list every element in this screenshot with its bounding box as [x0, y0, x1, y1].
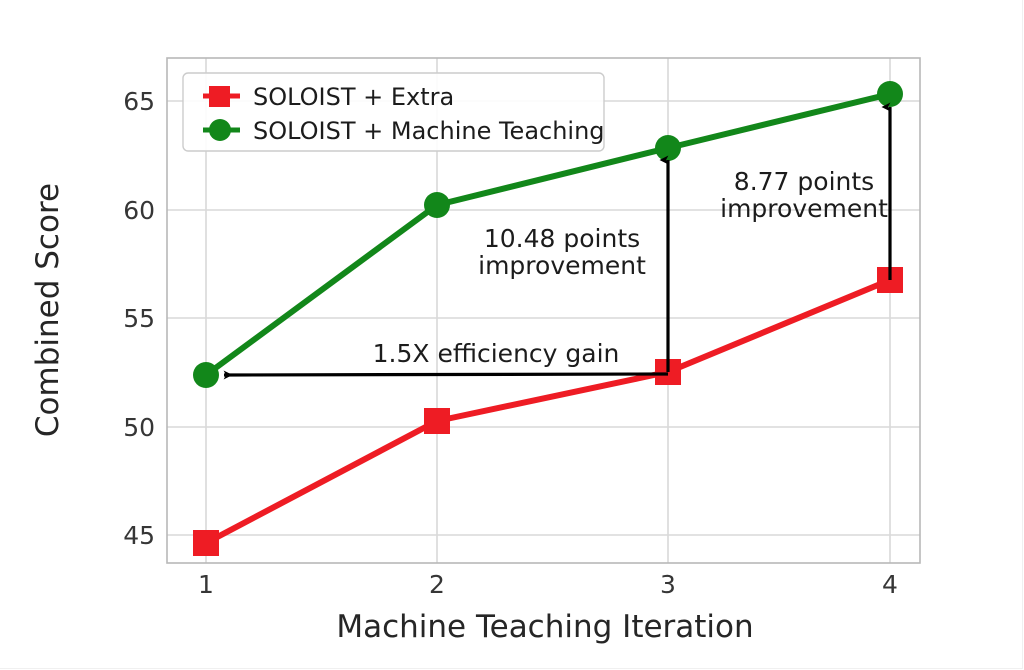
x-tick-4: 4 — [882, 570, 898, 599]
green-point-4 — [877, 81, 903, 107]
red-point-2 — [424, 408, 450, 434]
legend[interactable]: SOLOIST + Extra SOLOIST + Machine Teachi… — [183, 73, 605, 151]
annotation-efficiency-line1: 1.5X efficiency gain — [373, 339, 620, 368]
x-tick-2: 2 — [429, 570, 445, 599]
annotation-efficiency-gain: 1.5X efficiency gain — [373, 339, 620, 368]
legend-label-soloist-extra: SOLOIST + Extra — [253, 83, 454, 111]
y-tick-45: 45 — [123, 521, 155, 550]
x-axis-label: Machine Teaching Iteration — [336, 609, 753, 645]
y-tick-50: 50 — [123, 413, 155, 442]
green-point-3 — [655, 135, 681, 161]
x-tick-3: 3 — [660, 570, 676, 599]
annotation-iter4-line2: improvement — [720, 194, 888, 223]
green-point-2 — [424, 192, 450, 218]
line-chart: 10.48 points improvement 8.77 points imp… — [0, 0, 1024, 670]
y-tick-65: 65 — [123, 87, 155, 116]
y-tick-60: 60 — [123, 196, 155, 225]
annotation-gain-iter4: 8.77 points improvement — [720, 167, 888, 223]
legend-square-icon — [209, 86, 230, 107]
legend-label-soloist-machine-teaching: SOLOIST + Machine Teaching — [253, 117, 605, 145]
red-point-1 — [193, 530, 219, 556]
legend-circle-icon — [209, 119, 231, 141]
y-tick-55: 55 — [123, 304, 155, 333]
legend-item-soloist-machine-teaching[interactable]: SOLOIST + Machine Teaching — [203, 117, 605, 145]
annotation-iter4-line1: 8.77 points — [734, 167, 874, 196]
y-axis-ticks: 65 60 55 50 45 — [123, 87, 155, 550]
green-point-1 — [193, 362, 219, 388]
x-axis-ticks: 1 2 3 4 — [198, 570, 898, 599]
annotation-iter3-line2: improvement — [478, 251, 646, 280]
y-axis-label: Combined Score — [30, 183, 66, 437]
arrow-efficiency-gain — [224, 374, 668, 375]
chart-figure: 10.48 points improvement 8.77 points imp… — [0, 0, 1024, 670]
annotation-gain-iter3: 10.48 points improvement — [478, 224, 646, 280]
annotation-iter3-line1: 10.48 points — [484, 224, 640, 253]
x-tick-1: 1 — [198, 570, 214, 599]
